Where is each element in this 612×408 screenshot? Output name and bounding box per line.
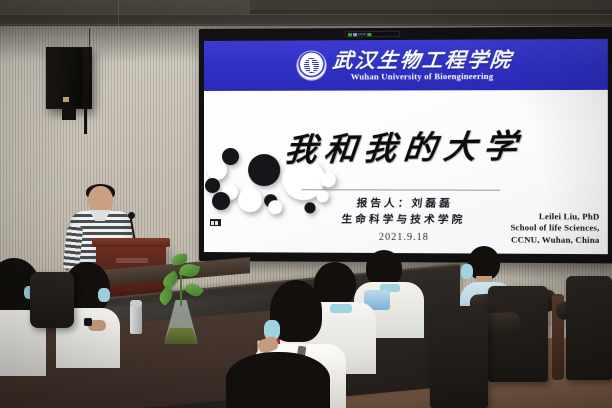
hair — [468, 246, 500, 280]
slide-body: 我和我的大学 报告人：刘磊磊 生命科学与技术学院 2021.9.18 Leile… — [204, 90, 608, 254]
conference-room-photo: HDMI 武汉生物工程学院 Wuhan University of Bioeng… — [0, 0, 612, 408]
wristwatch — [84, 318, 92, 326]
audience-member-2 — [78, 262, 132, 352]
chair-backrest — [30, 272, 74, 328]
university-name-block: 武汉生物工程学院 Wuhan University of Bioengineer… — [332, 49, 512, 81]
display-status-text: HDMI — [358, 33, 366, 36]
slide-credit-block: Leilei Liu, PhD School of life Sciences,… — [510, 211, 599, 246]
plant-stem — [180, 274, 182, 306]
university-emblem-icon — [297, 51, 325, 79]
speaker-bracket — [62, 106, 76, 120]
speaker-pole — [84, 106, 87, 134]
chair-backrest — [566, 276, 612, 380]
microphone-icon — [128, 212, 135, 219]
podium-top — [92, 238, 170, 247]
chair-backrest — [430, 306, 488, 408]
speaker-cable — [89, 28, 90, 48]
university-name-en: Wuhan University of Bioengineering — [351, 72, 494, 81]
credit-name: Leilei Liu, PhD — [510, 211, 599, 223]
university-name-cn: 武汉生物工程学院 — [331, 49, 513, 70]
presentation-display[interactable]: HDMI 武汉生物工程学院 Wuhan University of Bioeng… — [199, 27, 612, 264]
slide-title: 我和我的大学 — [204, 119, 608, 172]
loudspeaker-icon — [46, 47, 92, 109]
audience-member-foreground — [226, 352, 336, 408]
slide-header-band: 武汉生物工程学院 Wuhan University of Bioengineer… — [204, 39, 608, 91]
hair — [366, 250, 402, 286]
credit-city: CCNU, Wuhan, China — [510, 234, 599, 246]
speaker-badge — [63, 97, 69, 102]
slide-surface[interactable]: 武汉生物工程学院 Wuhan University of Bioengineer… — [204, 39, 608, 254]
vase-water — [164, 328, 198, 344]
face-mask — [461, 264, 473, 279]
display-status-bar: HDMI — [345, 31, 400, 37]
credit-school: School of life Sciences, — [510, 222, 599, 234]
hair — [226, 352, 330, 408]
plant-right — [164, 300, 198, 344]
face-mask — [98, 288, 110, 302]
